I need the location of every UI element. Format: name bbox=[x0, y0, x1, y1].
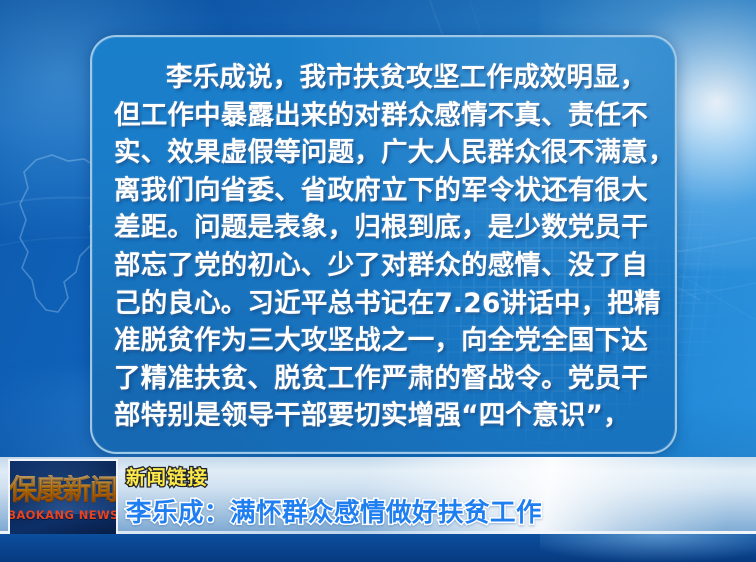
article-line: 差距。问题是表象，归根到底，是少数党员干 bbox=[114, 209, 653, 247]
lower-third-banner: 保康新闻 BAOKANG NEWS 新闻链接 李乐成：满怀群众感情做好扶贫工作 bbox=[0, 457, 756, 534]
bottom-strip-glow bbox=[540, 534, 756, 562]
article-line: 己的良心。习近平总书记在7.26讲话中，把精 bbox=[114, 285, 653, 323]
article-line: 李乐成说，我市扶贫攻坚工作成效明显， bbox=[114, 59, 653, 97]
bottom-strip bbox=[0, 534, 756, 562]
broadcast-frame: 李乐成说，我市扶贫攻坚工作成效明显， 但工作中暴露出来的对群众感情不真、责任不 … bbox=[0, 0, 756, 562]
article-line: 实、效果虚假等问题，广大人民群众很不满意， bbox=[114, 134, 653, 172]
article-line: 离我们向省委、省政府立下的军令状还有很大 bbox=[114, 172, 653, 210]
article-line: 部特别是领导干部要切实增强“四个意识”， bbox=[114, 397, 653, 435]
article-line: 部忘了党的初心、少了对群众的感情、没了自 bbox=[114, 247, 653, 285]
channel-logo-english: BAOKANG NEWS bbox=[8, 508, 118, 522]
banner-kicker: 新闻链接 bbox=[126, 461, 208, 490]
article-panel: 李乐成说，我市扶贫攻坚工作成效明显， 但工作中暴露出来的对群众感情不真、责任不 … bbox=[90, 35, 677, 454]
banner-headline: 李乐成：满怀群众感情做好扶贫工作 bbox=[126, 492, 542, 529]
article-text-block: 李乐成说，我市扶贫攻坚工作成效明显， 但工作中暴露出来的对群众感情不真、责任不 … bbox=[92, 37, 675, 435]
article-line: 但工作中暴露出来的对群众感情不真、责任不 bbox=[114, 97, 653, 135]
channel-logo-chinese: 保康新闻 bbox=[9, 475, 117, 504]
article-line: 了精准扶贫、脱贫工作严肃的督战令。党员干 bbox=[114, 360, 653, 398]
article-line: 准脱贫作为三大攻坚战之一，向全党全国下达 bbox=[114, 322, 653, 360]
channel-logo: 保康新闻 BAOKANG NEWS bbox=[8, 459, 118, 538]
